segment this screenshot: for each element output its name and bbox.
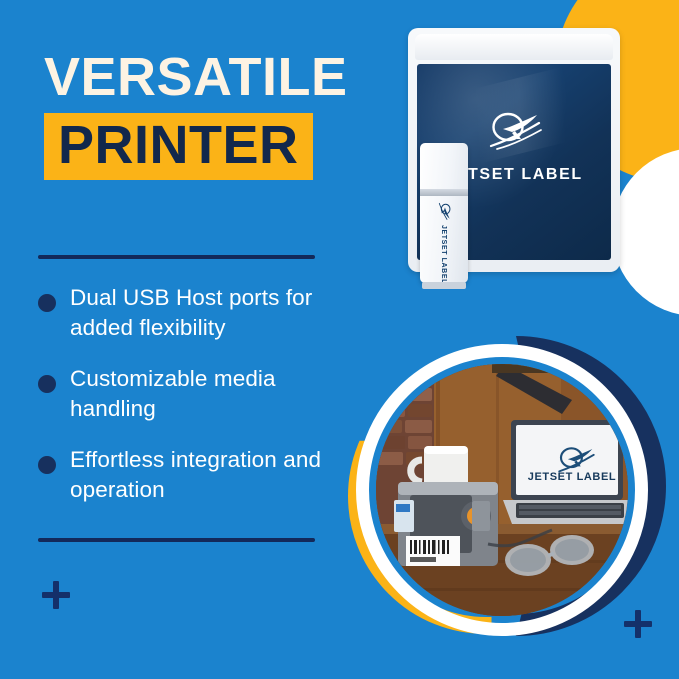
product-feature-poster: VERSATILE PRINTER Dual USB Host ports fo…	[0, 0, 679, 679]
divider-bottom	[38, 538, 315, 542]
usb-cap-seam	[420, 189, 468, 196]
jet-logo-icon	[436, 200, 452, 222]
list-item: Effortless integration and operation	[38, 445, 338, 505]
laptop: JETSET LABEL	[503, 420, 628, 524]
plus-icon-bottom-left	[42, 581, 70, 609]
usb-brand-name: JETSET LABEL	[441, 225, 448, 284]
desk-workspace-photo: JETSET LABEL	[376, 364, 628, 616]
feature-list: Dual USB Host ports for added flexibilit…	[38, 283, 338, 505]
label-printer	[394, 482, 498, 566]
list-item: Customizable media handling	[38, 364, 338, 424]
bullet-dot-icon	[38, 294, 56, 312]
headline-highlight-box: PRINTER	[44, 113, 313, 180]
list-item: Dual USB Host ports for added flexibilit…	[38, 283, 338, 343]
bullet-dot-icon	[38, 375, 56, 393]
white-circle-decoration	[612, 148, 679, 316]
device-lid-bar	[415, 34, 613, 60]
bullet-dot-icon	[38, 456, 56, 474]
workspace-photo-composition: JETSET LABEL	[348, 336, 666, 654]
feature-text: Customizable media handling	[70, 364, 338, 424]
usb-flash-drive-mock: JETSET LABEL	[420, 143, 468, 283]
usb-brand-lockup: JETSET LABEL	[420, 205, 468, 279]
feature-text: Effortless integration and operation	[70, 445, 338, 505]
headline-block: VERSATILE PRINTER	[44, 48, 374, 180]
usb-connector-base	[422, 282, 466, 289]
divider-top	[38, 255, 315, 259]
feature-text: Dual USB Host ports for added flexibilit…	[70, 283, 338, 343]
jet-logo-icon	[481, 108, 547, 156]
headline-primary: VERSATILE	[44, 48, 374, 106]
headline-secondary: PRINTER	[58, 117, 299, 173]
svg-text:JETSET LABEL: JETSET LABEL	[528, 471, 617, 483]
